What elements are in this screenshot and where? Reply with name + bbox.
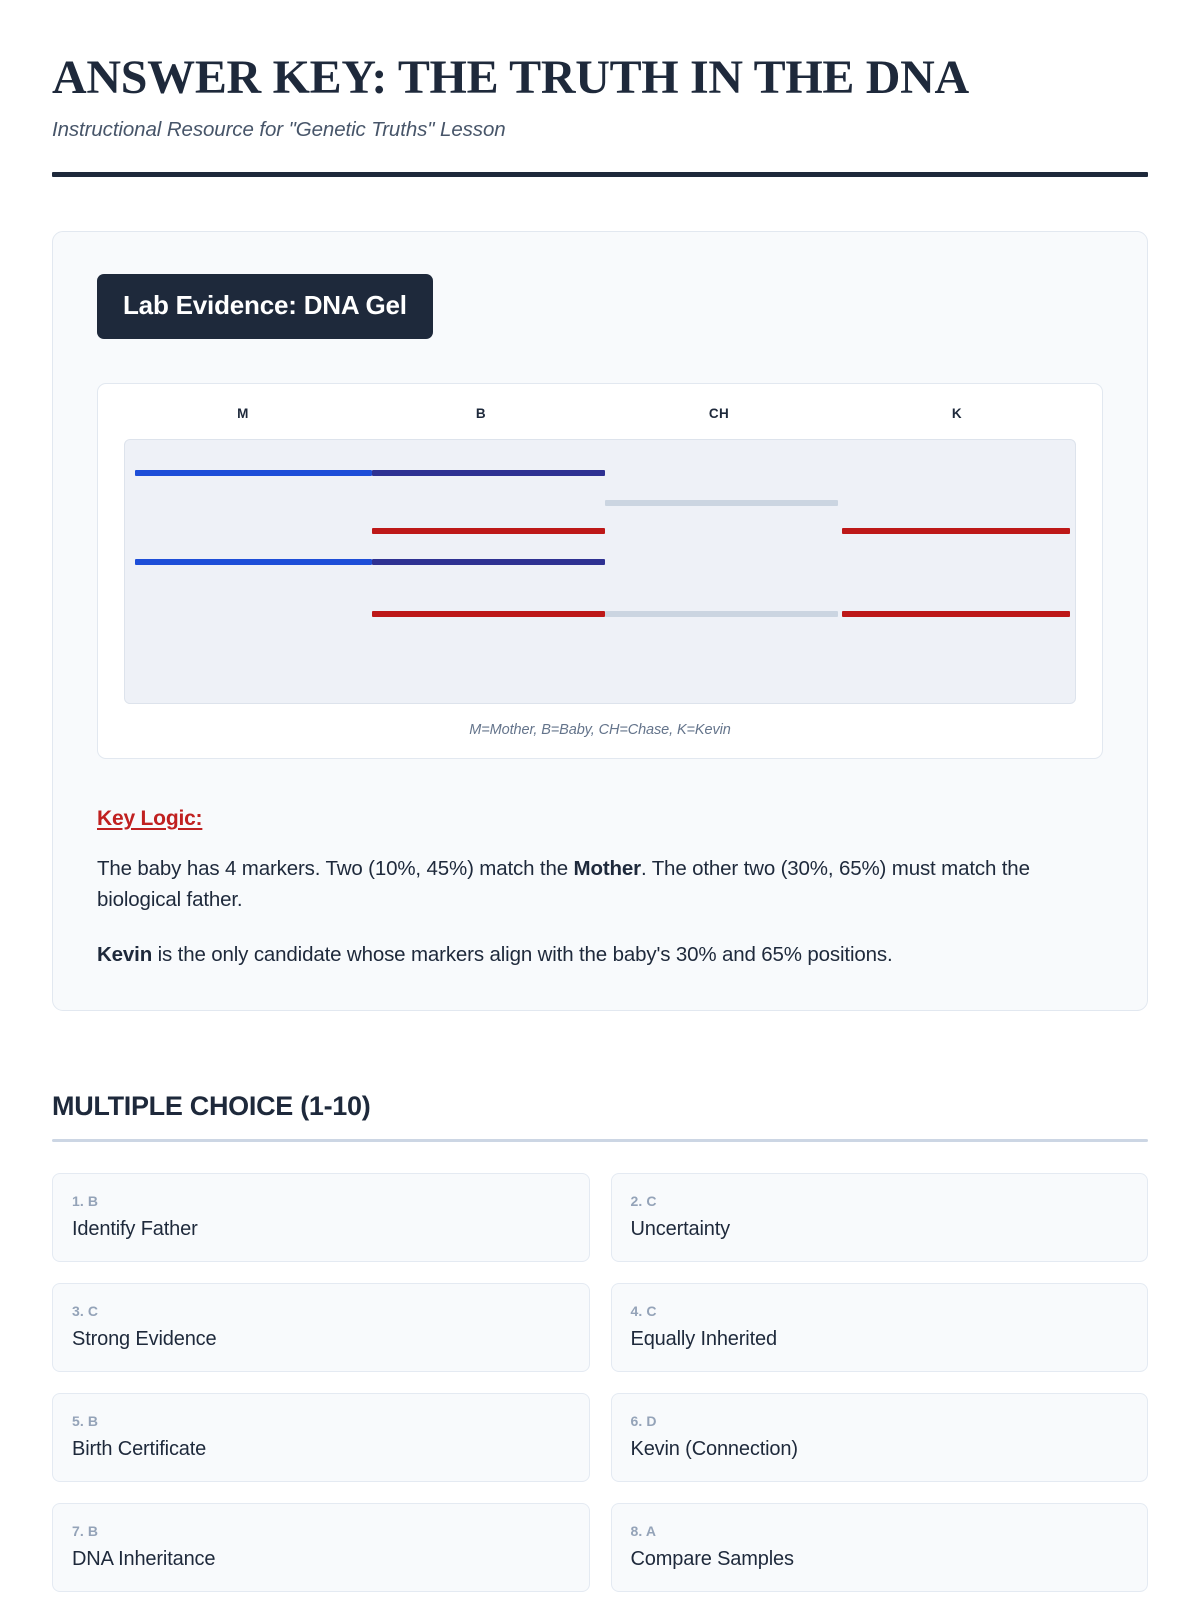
lab-evidence-badge: Lab Evidence: DNA Gel: [97, 274, 433, 339]
gel-band-ch-2: [605, 500, 838, 506]
gel-lane-label-m: M: [237, 406, 249, 421]
gel-lane-labels: MBCHK: [124, 406, 1076, 430]
answer-text: DNA Inheritance: [72, 1548, 570, 1571]
gel-band-ch-8: [605, 611, 838, 617]
answer-card: 3. CStrong Evidence: [52, 1283, 590, 1372]
answer-card: 1. BIdentify Father: [52, 1173, 590, 1262]
gel-band-m-0: [135, 470, 373, 476]
answer-number: 2. C: [631, 1193, 1129, 1209]
answer-number: 8. A: [631, 1523, 1129, 1539]
header-divider: [52, 172, 1148, 177]
answer-card: 6. DKevin (Connection): [611, 1393, 1149, 1482]
gel-band-b-6: [372, 559, 605, 565]
lab-evidence-card: Lab Evidence: DNA Gel MBCHK M=Mother, B=…: [52, 231, 1148, 1011]
answer-number: 6. D: [631, 1413, 1129, 1429]
answer-text: Kevin (Connection): [631, 1438, 1129, 1461]
answer-text: Birth Certificate: [72, 1438, 570, 1461]
answer-number: 5. B: [72, 1413, 570, 1429]
answer-card: 4. CEqually Inherited: [611, 1283, 1149, 1372]
answer-number: 4. C: [631, 1303, 1129, 1319]
logic-1-bold: Mother: [574, 857, 641, 880]
answer-text: Uncertainty: [631, 1218, 1129, 1241]
multiple-choice-section: MULTIPLE CHOICE (1-10) 1. BIdentify Fath…: [52, 1091, 1148, 1600]
answer-text: Equally Inherited: [631, 1328, 1129, 1351]
answer-key-page: ANSWER KEY: THE TRUTH IN THE DNA Instruc…: [0, 0, 1200, 1600]
gel-band-m-5: [135, 559, 373, 565]
gel-lane-label-b: B: [476, 406, 486, 421]
answer-number: 3. C: [72, 1303, 570, 1319]
dna-gel-panel: MBCHK M=Mother, B=Baby, CH=Chase, K=Kevi…: [97, 383, 1103, 759]
logic-1-pre: The baby has 4 markers. Two (10%, 45%) m…: [97, 857, 574, 880]
gel-band-b-1: [372, 470, 605, 476]
answer-text: Strong Evidence: [72, 1328, 570, 1351]
answer-card: 5. BBirth Certificate: [52, 1393, 590, 1482]
logic-2-bold: Kevin: [97, 943, 152, 966]
page-title: ANSWER KEY: THE TRUTH IN THE DNA: [52, 52, 1148, 104]
answer-card: 7. BDNA Inheritance: [52, 1503, 590, 1592]
answer-grid: 1. BIdentify Father2. CUncertainty3. CSt…: [52, 1173, 1148, 1600]
gel-band-k-4: [842, 528, 1070, 534]
gel-band-b-3: [372, 528, 605, 534]
key-logic-paragraph-2: Kevin is the only candidate whose marker…: [97, 939, 1059, 970]
key-logic-paragraph-1: The baby has 4 markers. Two (10%, 45%) m…: [97, 853, 1059, 915]
answer-number: 7. B: [72, 1523, 570, 1539]
answer-card: 8. ACompare Samples: [611, 1503, 1149, 1592]
gel-band-b-7: [372, 611, 605, 617]
answer-number: 1. B: [72, 1193, 570, 1209]
page-subtitle: Instructional Resource for "Genetic Trut…: [52, 118, 1148, 142]
section-title: MULTIPLE CHOICE (1-10): [52, 1091, 1148, 1122]
answer-text: Compare Samples: [631, 1548, 1129, 1571]
gel-plate: [124, 439, 1076, 704]
gel-caption: M=Mother, B=Baby, CH=Chase, K=Kevin: [124, 722, 1076, 738]
gel-band-k-9: [842, 611, 1070, 617]
gel-lane-label-k: K: [952, 406, 962, 421]
answer-card: 2. CUncertainty: [611, 1173, 1149, 1262]
key-logic-heading: Key Logic:: [97, 807, 1103, 831]
gel-lane-label-ch: CH: [709, 406, 729, 421]
document-header: ANSWER KEY: THE TRUTH IN THE DNA Instruc…: [52, 52, 1148, 177]
section-divider: [52, 1139, 1148, 1142]
answer-text: Identify Father: [72, 1218, 570, 1241]
logic-2-post: is the only candidate whose markers alig…: [152, 943, 892, 966]
